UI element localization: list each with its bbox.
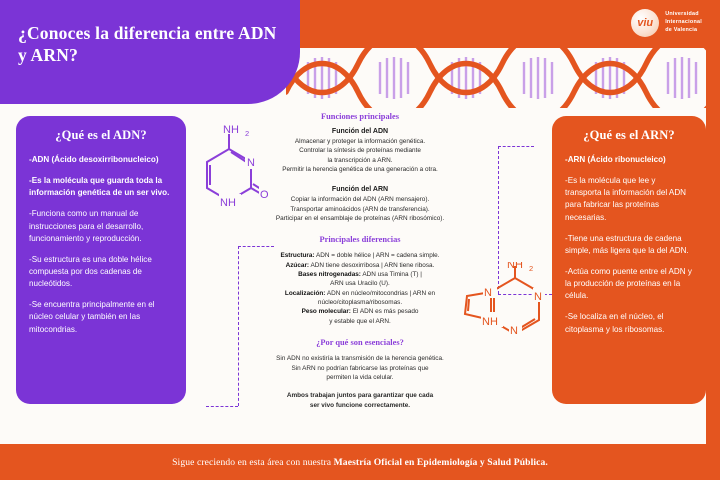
footer-text: Sigue creciendo en esta área con nuestra… — [172, 457, 548, 468]
panel-adn: ¿Qué es el ADN? -ADN (Ácido desoxirribon… — [16, 116, 186, 404]
esenciales-line-2: permiten la vida celular. — [226, 373, 494, 382]
panel-arn: ¿Qué es el ARN? -ARN (Ácido ribonucleico… — [552, 116, 706, 404]
panel-arn-item-0: -ARN (Ácido ribonucleico) — [565, 154, 693, 166]
panel-adn-item-1: -Es la molécula que guarda toda la infor… — [29, 175, 173, 199]
connector-right-top — [498, 146, 534, 147]
esenciales-line-1: Sin ARN no podrían fabricarse las proteí… — [226, 364, 494, 373]
panel-adn-item-3: -Su estructura es una doble hélice compu… — [29, 254, 173, 290]
viu-logo: viu Universidad Internacional de Valenci… — [631, 9, 702, 37]
funcion-arn-section: Función del ARN Copiar la información de… — [226, 186, 494, 223]
funciones-heading: Funciones principales — [226, 112, 494, 121]
panel-arn-item-1: -Es la molécula que lee y transporta la … — [565, 175, 693, 224]
diferencia-row-2: Bases nitrogenadas: ADN usa Timina (T) | — [226, 270, 494, 279]
funcion-adn-line-0: Almacenar y proteger la información gené… — [226, 137, 494, 146]
diferencia-row-4: Localización: ADN en núcleo/mitocondrias… — [226, 289, 494, 298]
footer-text-plain: Sigue creciendo en esta área con nuestra — [172, 457, 334, 468]
diferencia-text-5: núcleo/citoplasma/ribosomas. — [318, 299, 402, 306]
diferencia-label-4: Localización: — [285, 290, 325, 297]
funcion-adn-line-3: Permitir la herencia genética de una gen… — [226, 165, 494, 174]
svg-text:NH: NH — [507, 262, 523, 271]
diferencias-section: Principales diferencias Estructura: ADN … — [226, 235, 494, 326]
conclusion-line-1: ser vivo funcione correctamente. — [226, 401, 494, 410]
funciones-section: Funciones principales Función del ADN Al… — [226, 112, 494, 174]
conclusion-line-0: Ambos trabajan juntos para garantizar qu… — [226, 391, 494, 400]
funcion-adn-label: Función del ADN — [226, 128, 494, 135]
funcion-adn-line-1: Controlar la síntesis de proteínas media… — [226, 146, 494, 155]
esenciales-section: ¿Por qué son esenciales? Sin ADN no exis… — [226, 338, 494, 382]
panel-arn-item-2: -Tiene una estructura de cadena simple, … — [565, 233, 693, 257]
diferencia-label-0: Estructura: — [280, 252, 314, 259]
center-content: Funciones principales Función del ADN Al… — [226, 112, 494, 410]
panel-adn-title: ¿Qué es el ADN? — [29, 128, 173, 143]
viu-logo-text: Universidad Internacional de Valencia — [665, 11, 702, 34]
diferencia-text-7: y estable que el ARN. — [329, 318, 390, 325]
diferencia-label-6: Peso molecular: — [302, 308, 351, 315]
diferencia-text-4: ADN en núcleo/mitocondrias | ARN en — [325, 290, 435, 297]
diferencia-text-3: ARN usa Uracilo (U). — [330, 280, 390, 287]
diferencia-label-2: Bases nitrogenadas: — [298, 271, 361, 278]
panel-arn-item-3: -Actúa como puente entre el ADN y la pro… — [565, 266, 693, 302]
logo-line-1: Universidad — [665, 11, 702, 19]
panel-arn-title: ¿Qué es el ARN? — [565, 128, 693, 143]
esenciales-line-0: Sin ADN no existiría la transmisión de l… — [226, 354, 494, 363]
footer-text-bold: Maestría Oficial en Epidemiología y Salu… — [334, 457, 548, 468]
infographic-canvas: ¿Conoces la diferencia entre ADN y ARN? … — [0, 0, 720, 480]
diferencia-row-3: ARN usa Uracilo (U). — [226, 279, 494, 288]
right-orange-edge — [706, 48, 720, 444]
dna-double-helix-icon — [286, 48, 720, 108]
svg-text:2: 2 — [529, 264, 533, 273]
funcion-arn-line-1: Transportar aminoácidos (ARN de transfer… — [226, 205, 494, 214]
diferencia-row-0: Estructura: ADN = doble hélice | ARN = c… — [226, 251, 494, 260]
diferencia-row-6: Peso molecular: El ADN es más pesado — [226, 307, 494, 316]
diferencias-list: Estructura: ADN = doble hélice | ARN = c… — [226, 251, 494, 326]
diferencias-heading: Principales diferencias — [226, 235, 494, 244]
panel-adn-item-2: -Funciona como un manual de instruccione… — [29, 208, 173, 244]
diferencia-text-1: ADN tiene desoxirribosa | ARN tiene ribo… — [309, 262, 434, 269]
funcion-arn-label: Función del ARN — [226, 186, 494, 193]
page-title: ¿Conoces la diferencia entre ADN y ARN? — [18, 22, 290, 67]
footer-bar: Sigue creciendo en esta área con nuestra… — [0, 444, 720, 480]
panel-adn-item-4: -Se encuentra principalmente en el núcle… — [29, 299, 173, 335]
esenciales-heading: ¿Por qué son esenciales? — [226, 338, 494, 347]
logo-line-2: Internacional — [665, 19, 702, 27]
diferencia-text-6: El ADN es más pesado — [351, 308, 419, 315]
diferencia-row-1: Azúcar: ADN tiene desoxirribosa | ARN ti… — [226, 261, 494, 270]
logo-line-3: de Valencia — [665, 27, 702, 35]
svg-text:N: N — [510, 325, 518, 337]
diferencia-row-5: núcleo/citoplasma/ribosomas. — [226, 298, 494, 307]
conclusion-section: Ambos trabajan juntos para garantizar qu… — [226, 391, 494, 410]
diferencia-text-2: ADN usa Timina (T) | — [361, 271, 422, 278]
funcion-arn-line-2: Participar en el ensamblaje de proteínas… — [226, 214, 494, 223]
panel-arn-item-4: -Se localiza en el núcleo, el citoplasma… — [565, 311, 693, 335]
funcion-arn-line-0: Copiar la información del ADN (ARN mensa… — [226, 195, 494, 204]
viu-logo-mark: viu — [631, 9, 659, 37]
diferencia-text-0: ADN = doble hélice | ARN = cadena simple… — [315, 252, 440, 259]
diferencia-row-7: y estable que el ARN. — [226, 317, 494, 326]
panel-adn-item-0: -ADN (Ácido desoxirribonucleico) — [29, 154, 173, 166]
diferencia-label-1: Azúcar: — [286, 262, 309, 269]
svg-text:N: N — [534, 291, 542, 303]
funcion-adn-line-2: la transcripción a ARN. — [226, 156, 494, 165]
